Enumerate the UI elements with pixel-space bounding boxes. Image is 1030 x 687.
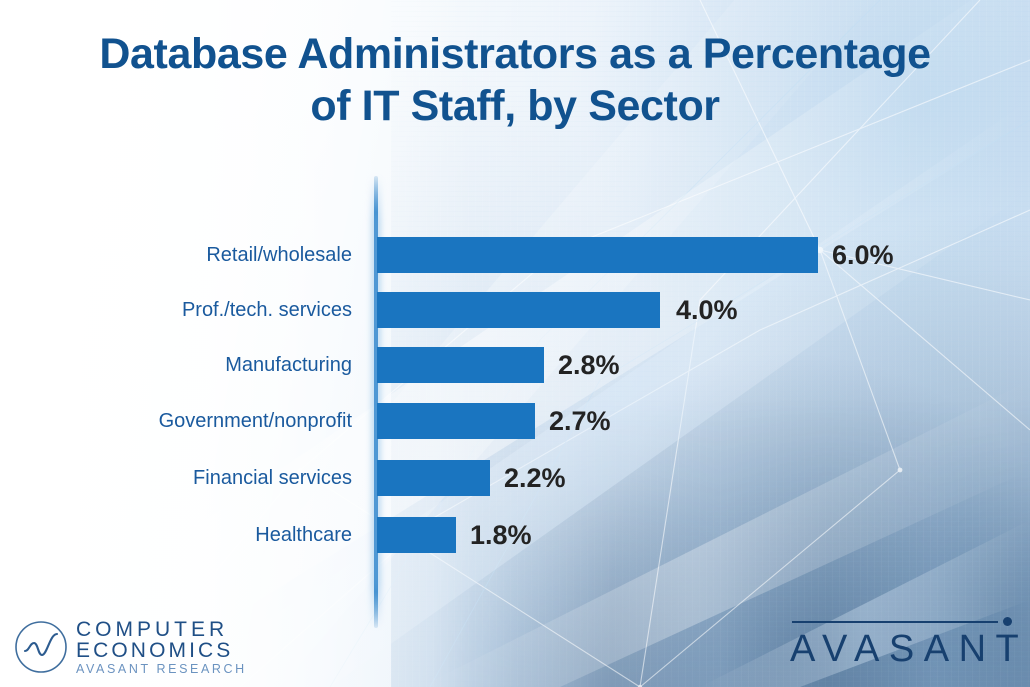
bar xyxy=(377,403,535,439)
category-label: Retail/wholesale xyxy=(0,235,352,275)
chart-row: Healthcare 1.8% xyxy=(0,515,1030,555)
bar-value-label: 2.2% xyxy=(504,458,566,498)
category-label: Prof./tech. services xyxy=(0,290,352,330)
infographic-slide: Database Administrators as a Percentage … xyxy=(0,0,1030,687)
chart-row: Prof./tech. services 4.0% xyxy=(0,290,1030,330)
avasant-wordmark: AVASANT xyxy=(782,627,1012,671)
bar xyxy=(377,517,456,553)
category-label: Manufacturing xyxy=(0,345,352,385)
bar-value-label: 1.8% xyxy=(470,515,532,555)
chart-row: Government/nonprofit 2.7% xyxy=(0,401,1030,441)
avasant-rule xyxy=(792,621,998,623)
category-label: Financial services xyxy=(0,458,352,498)
computer-economics-wordmark: COMPUTER ECONOMICS AVASANT RESEARCH xyxy=(76,619,247,676)
logo-word-computer: COMPUTER xyxy=(76,619,247,640)
title-line-2: of IT Staff, by Sector xyxy=(0,80,1030,132)
chart-row: Retail/wholesale 6.0% xyxy=(0,235,1030,275)
bar-value-label: 2.8% xyxy=(558,345,620,385)
bar xyxy=(377,347,544,383)
bar xyxy=(377,292,660,328)
avasant-logo: AVASANT xyxy=(782,617,1012,671)
bar-value-label: 6.0% xyxy=(832,235,894,275)
avasant-dot xyxy=(1003,617,1012,626)
chart-row: Financial services 2.2% xyxy=(0,458,1030,498)
bar-value-label: 4.0% xyxy=(676,290,738,330)
computer-economics-logo: COMPUTER ECONOMICS AVASANT RESEARCH xyxy=(14,619,247,676)
bar xyxy=(377,460,490,496)
avasant-rule-dot-icon xyxy=(782,617,1012,627)
page-title: Database Administrators as a Percentage … xyxy=(0,28,1030,132)
category-label: Healthcare xyxy=(0,515,352,555)
logo-word-economics: ECONOMICS xyxy=(76,640,247,661)
title-line-1: Database Administrators as a Percentage xyxy=(0,28,1030,80)
chart-row: Manufacturing 2.8% xyxy=(0,345,1030,385)
logo-word-avasant-research: AVASANT RESEARCH xyxy=(76,663,247,676)
circle-wave-icon xyxy=(14,620,68,674)
bar xyxy=(377,237,818,273)
category-label: Government/nonprofit xyxy=(0,401,352,441)
bar-value-label: 2.7% xyxy=(549,401,611,441)
